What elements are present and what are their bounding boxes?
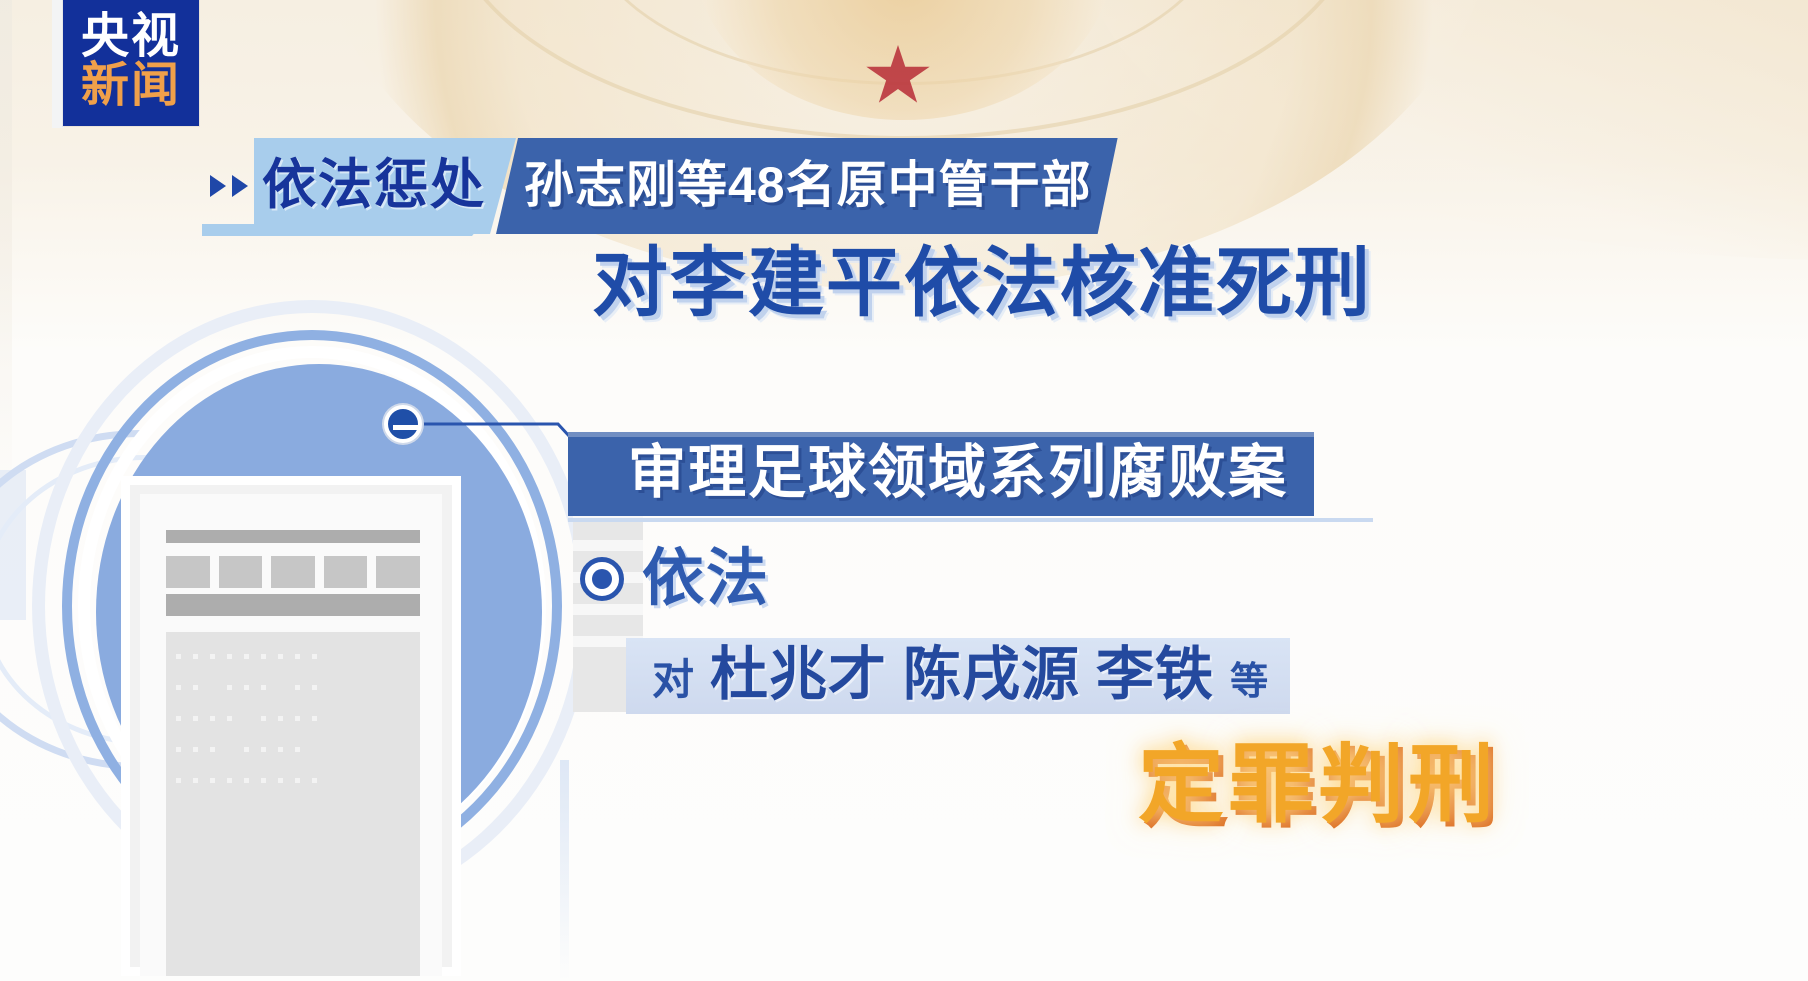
logo-line-2: 新闻 [81, 62, 181, 111]
headline-row-1: 依法惩处 孙志刚等48名原中管干部 [196, 138, 1118, 234]
row4-label: 依法 [642, 548, 770, 610]
headline-row-6-verdict: 定罪判刑 [1138, 742, 1498, 828]
row5-name-1: 杜兆才 [710, 646, 887, 704]
double-chevron-right-icon [196, 138, 258, 234]
leader-line [18, 286, 658, 981]
headline-row-3-banner: 审理足球领域系列腐败案 [568, 432, 1314, 516]
row1-banner-label: 孙志刚等48名原中管干部 [524, 160, 1092, 210]
left-edge-shade [0, 0, 12, 520]
row3-underline [568, 518, 1373, 522]
row1-tag: 依法惩处 [254, 138, 516, 234]
court-document-graphic [18, 286, 658, 981]
row5-name-2: 陈戌源 [903, 646, 1080, 704]
row5-prefix: 对 [652, 659, 694, 701]
row1-banner: 孙志刚等48名原中管干部 [496, 138, 1118, 234]
row3-highlight [568, 432, 1314, 437]
row5-name-3: 李铁 [1096, 646, 1214, 704]
row5-suffix: 等 [1230, 663, 1268, 701]
row6-label: 定罪判刑 [1138, 737, 1498, 833]
radio-target-icon [580, 557, 624, 601]
headline-row-2: 对李建平依法核准死刑 [592, 244, 1372, 325]
minus-node-icon [384, 405, 422, 443]
row3-label: 审理足球领域系列腐败案 [628, 444, 1288, 502]
logo-line-1: 央视 [81, 13, 181, 62]
row2-label: 对李建平依法核准死刑 [592, 241, 1372, 326]
headline-row-5-names: 对 杜兆才 陈戌源 李铁 等 [626, 638, 1290, 714]
cctv-news-logo: 央视 新闻 [63, 0, 199, 126]
headline-row-4: 依法 [580, 548, 770, 610]
row1-tag-label: 依法惩处 [262, 158, 486, 212]
